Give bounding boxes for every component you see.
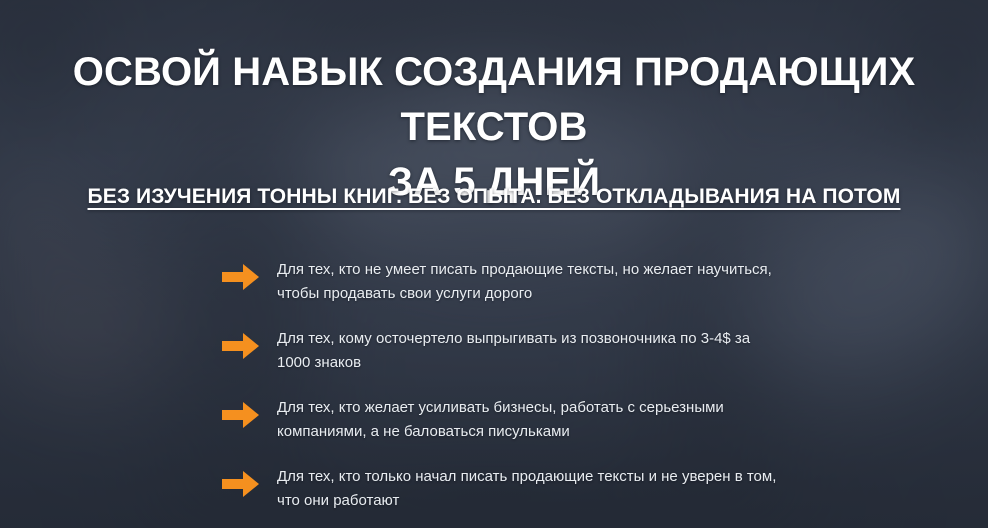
hero-content: ОСВОЙ НАВЫК СОЗДАНИЯ ПРОДАЮЩИХ ТЕКСТОВ З… xyxy=(0,0,988,528)
arrow-right-icon xyxy=(222,471,259,497)
list-item-label: Для тех, кто не умеет писать продающие т… xyxy=(277,258,777,305)
arrow-right-icon xyxy=(222,264,259,290)
list-item: Для тех, кто желает усиливать бизнесы, р… xyxy=(222,396,782,443)
list-item: Для тех, кто не умеет писать продающие т… xyxy=(222,258,782,305)
list-item-label: Для тех, кто только начал писать продающ… xyxy=(277,465,777,512)
list-item: Для тех, кому осточертело выпрыгивать из… xyxy=(222,327,782,374)
page-subtitle: БЕЗ ИЗУЧЕНИЯ ТОННЫ КНИГ. БЕЗ ОПЫТА. БЕЗ … xyxy=(0,183,988,211)
hero-section: ОСВОЙ НАВЫК СОЗДАНИЯ ПРОДАЮЩИХ ТЕКСТОВ З… xyxy=(0,0,988,528)
list-item-label: Для тех, кому осточертело выпрыгивать из… xyxy=(277,327,777,374)
arrow-right-icon xyxy=(222,402,259,428)
list-item: Для тех, кто только начал писать продающ… xyxy=(222,465,782,512)
list-item-label: Для тех, кто желает усиливать бизнесы, р… xyxy=(277,396,777,443)
benefits-list: Для тех, кто не умеет писать продающие т… xyxy=(222,258,782,512)
arrow-right-icon xyxy=(222,333,259,359)
